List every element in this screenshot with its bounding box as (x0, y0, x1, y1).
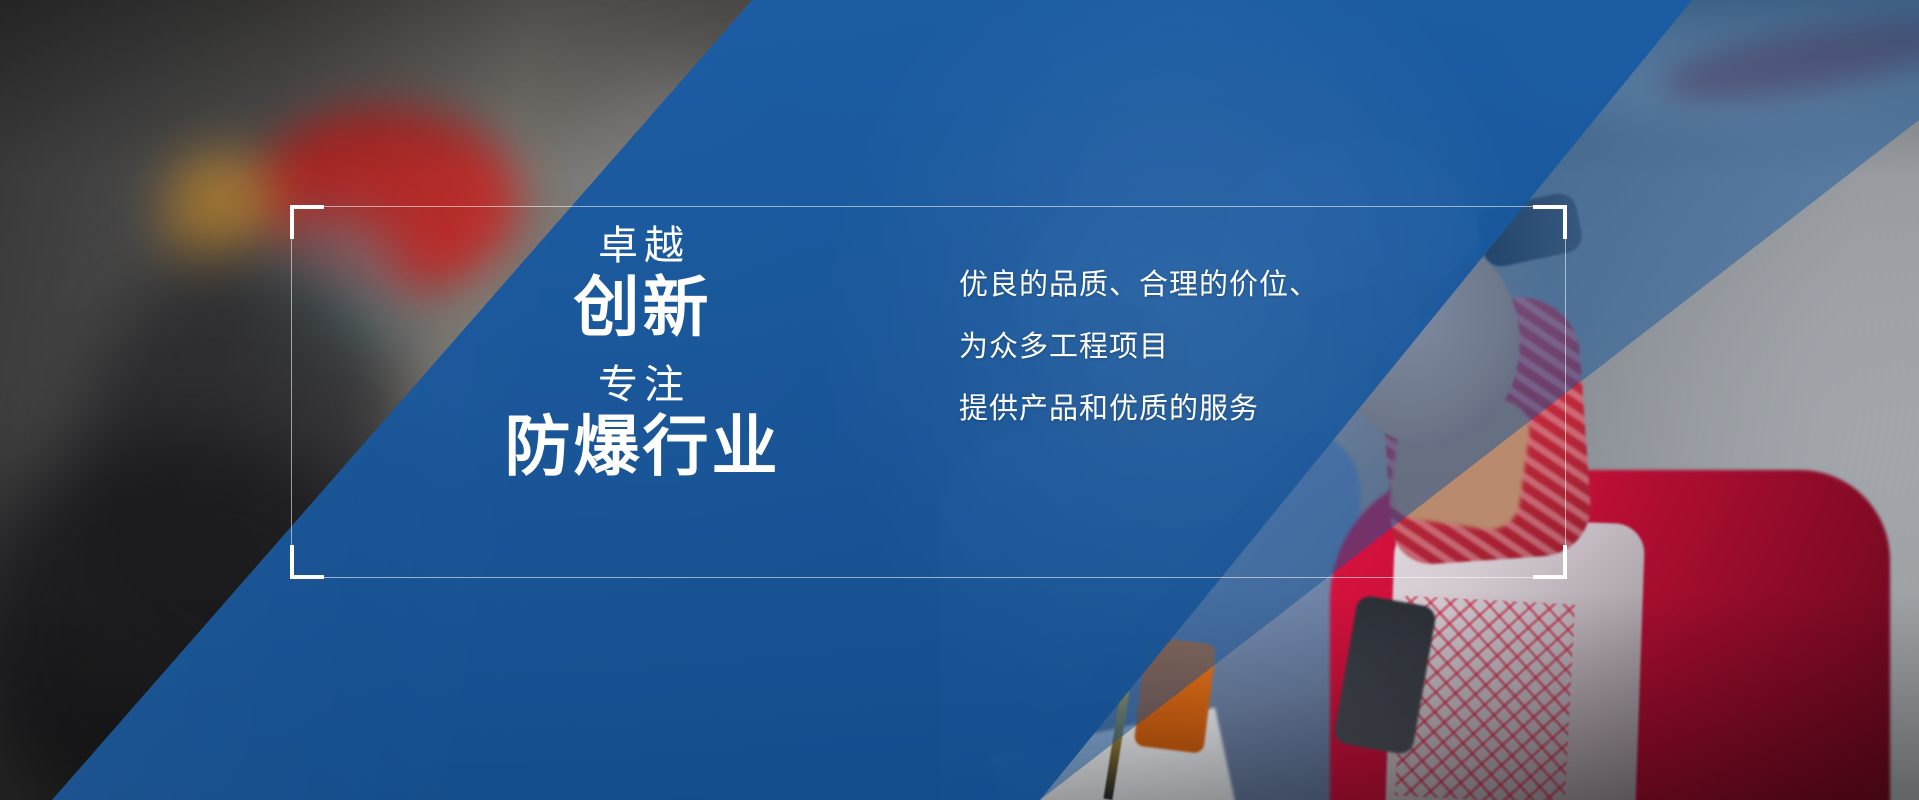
banner-headline: 卓越 创新 专注 防爆行业 (431, 224, 851, 485)
headline-line-innovation: 创新 (431, 269, 851, 346)
banner-content: 卓越 创新 专注 防爆行业 优良的品质、合理的价位、 为众多工程项目 提供产品和… (291, 206, 1566, 578)
description-line-3: 提供产品和优质的服务 (959, 378, 1319, 440)
description-line-1: 优良的品质、合理的价位、 (959, 254, 1319, 316)
banner-description: 优良的品质、合理的价位、 为众多工程项目 提供产品和优质的服务 (959, 254, 1319, 440)
hero-banner: 卓越 创新 专注 防爆行业 优良的品质、合理的价位、 为众多工程项目 提供产品和… (0, 0, 1919, 800)
description-line-2: 为众多工程项目 (959, 316, 1319, 378)
headline-line-industry: 防爆行业 (431, 408, 851, 485)
headline-line-excellence: 卓越 (431, 224, 851, 269)
headline-line-focus: 专注 (431, 363, 851, 408)
